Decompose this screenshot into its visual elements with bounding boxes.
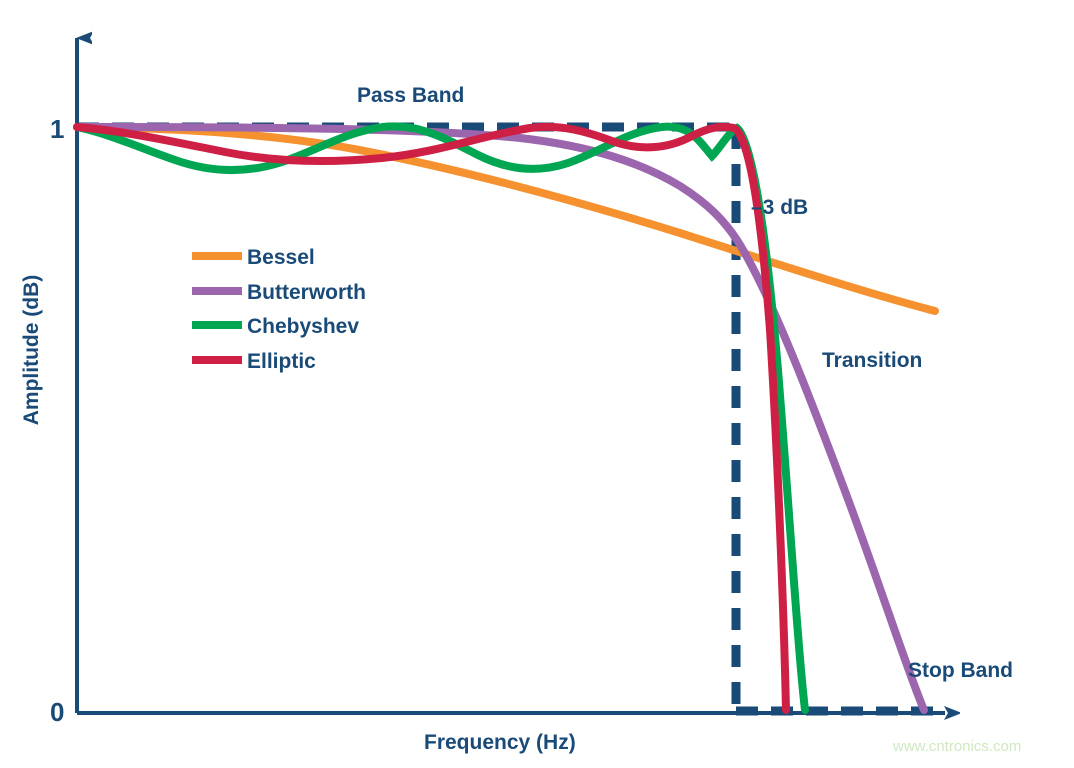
annotation-transition: Transition <box>822 349 922 373</box>
filter-response-plot <box>0 0 1074 768</box>
annotation-pass-band: Pass Band <box>357 84 464 108</box>
x-axis-label: Frequency (Hz) <box>424 731 576 755</box>
legend-label-butterworth: Butterworth <box>247 281 366 305</box>
legend-label-chebyshev: Chebyshev <box>247 315 359 339</box>
chart-canvas: Bessel Butterworth Chebyshev Elliptic Pa… <box>0 0 1074 768</box>
legend-label-bessel: Bessel <box>247 246 315 270</box>
legend-label-elliptic: Elliptic <box>247 350 316 374</box>
annotation-stop-band: Stop Band <box>908 659 1013 683</box>
y-tick-label-0: 0 <box>50 697 64 728</box>
legend-swatches <box>190 240 250 380</box>
curve-chebyshev <box>77 126 805 710</box>
y-tick-label-1: 1 <box>50 114 64 145</box>
curve-elliptic <box>77 127 786 710</box>
y-axis-label: Amplitude (dB) <box>20 270 44 430</box>
annotation-minus-3db: –3 dB <box>751 196 808 220</box>
watermark: www.cntronics.com <box>893 738 1021 755</box>
